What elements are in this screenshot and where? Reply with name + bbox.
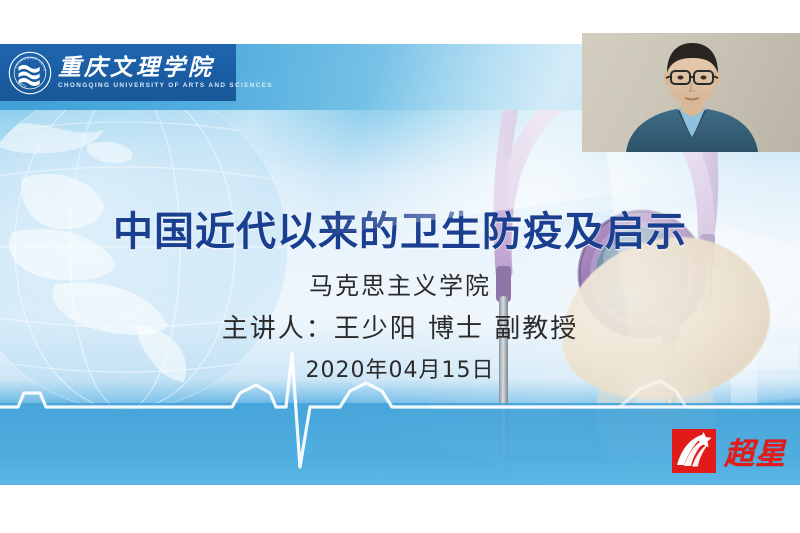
slide-subtitle-speaker: 主讲人：王少阳 博士 副教授: [0, 308, 800, 345]
university-logo-bar: CHONGQING UNIVERSITY 1976 重庆文理学院 CHONGQI…: [0, 44, 236, 101]
chaoxing-wordmark: 超星: [724, 429, 786, 473]
slide-subtitle-date: 2020年04月15日: [0, 352, 800, 384]
slide-subtitle-org: 马克思主义学院: [0, 266, 800, 301]
university-name-cn: 重庆文理学院: [58, 56, 273, 79]
university-name-en: CHONGQING UNIVERSITY OF ARTS AND SCIENCE…: [58, 83, 273, 89]
presenter-figure: [582, 33, 800, 152]
chaoxing-watermark: 超星: [672, 429, 786, 473]
shooting-star-icon: [672, 429, 716, 473]
university-name-block: 重庆文理学院 CHONGQING UNIVERSITY OF ARTS AND …: [58, 56, 273, 89]
university-seal-icon: CHONGQING UNIVERSITY 1976: [8, 51, 52, 95]
screenshot-root: 中国近代以来的卫生防疫及启示 马克思主义学院 主讲人：王少阳 博士 副教授 20…: [0, 0, 800, 533]
presenter-video[interactable]: [582, 33, 800, 152]
